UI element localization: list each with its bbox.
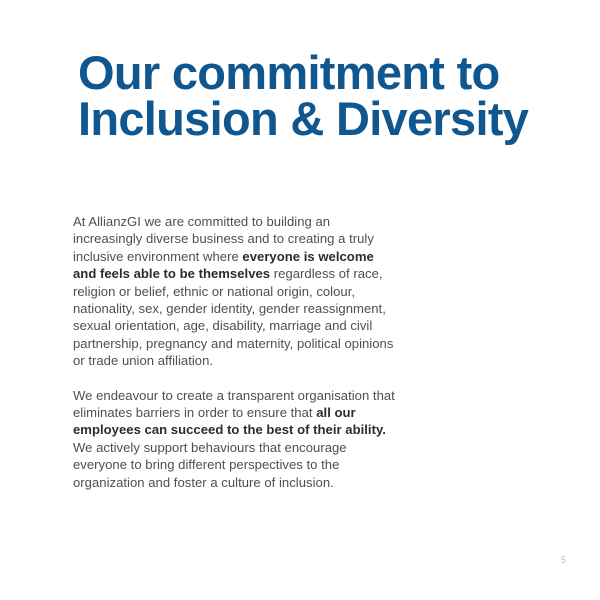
body-copy: At AllianzGI we are committed to buildin… xyxy=(73,213,395,491)
page-title: Our commitment to Inclusion & Diversity xyxy=(78,50,548,142)
page-number: 5 xyxy=(561,554,566,566)
document-page: Our commitment to Inclusion & Diversity … xyxy=(0,0,600,600)
paragraph-commitment: At AllianzGI we are committed to buildin… xyxy=(73,213,395,370)
paragraph-endeavour: We endeavour to create a transparent org… xyxy=(73,387,395,491)
